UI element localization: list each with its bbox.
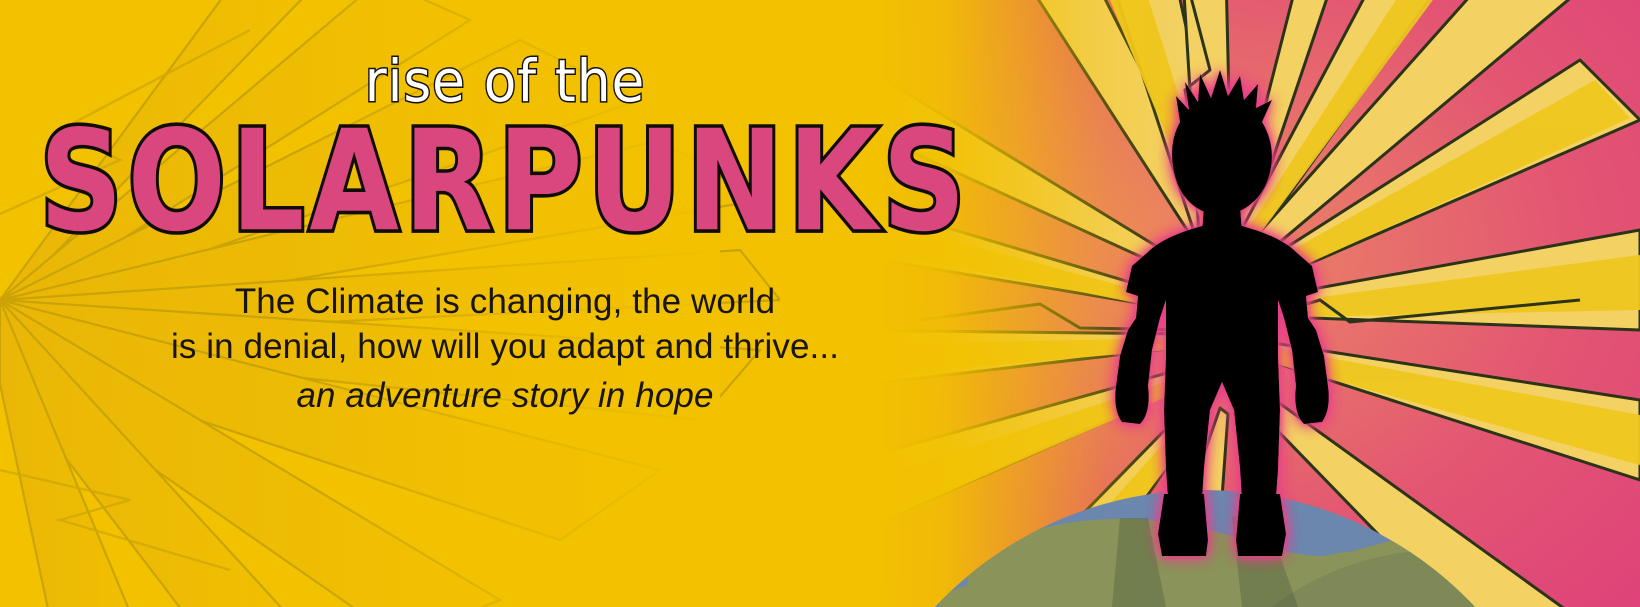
tagline-line-1: The Climate is changing, the world [235, 282, 775, 321]
tagline-line-2: is in denial, how will you adapt and thr… [171, 327, 839, 366]
solarpunks-banner: rise of the SOLARPUNKS The Climate is ch… [0, 0, 1640, 607]
page-title: SOLARPUNKS [10, 116, 1000, 247]
headline-block: rise of the SOLARPUNKS The Climate is ch… [0, 0, 1010, 418]
tagline-line-3: an adventure story in hope [0, 373, 1010, 419]
tagline: The Climate is changing, the world is in… [0, 279, 1010, 419]
